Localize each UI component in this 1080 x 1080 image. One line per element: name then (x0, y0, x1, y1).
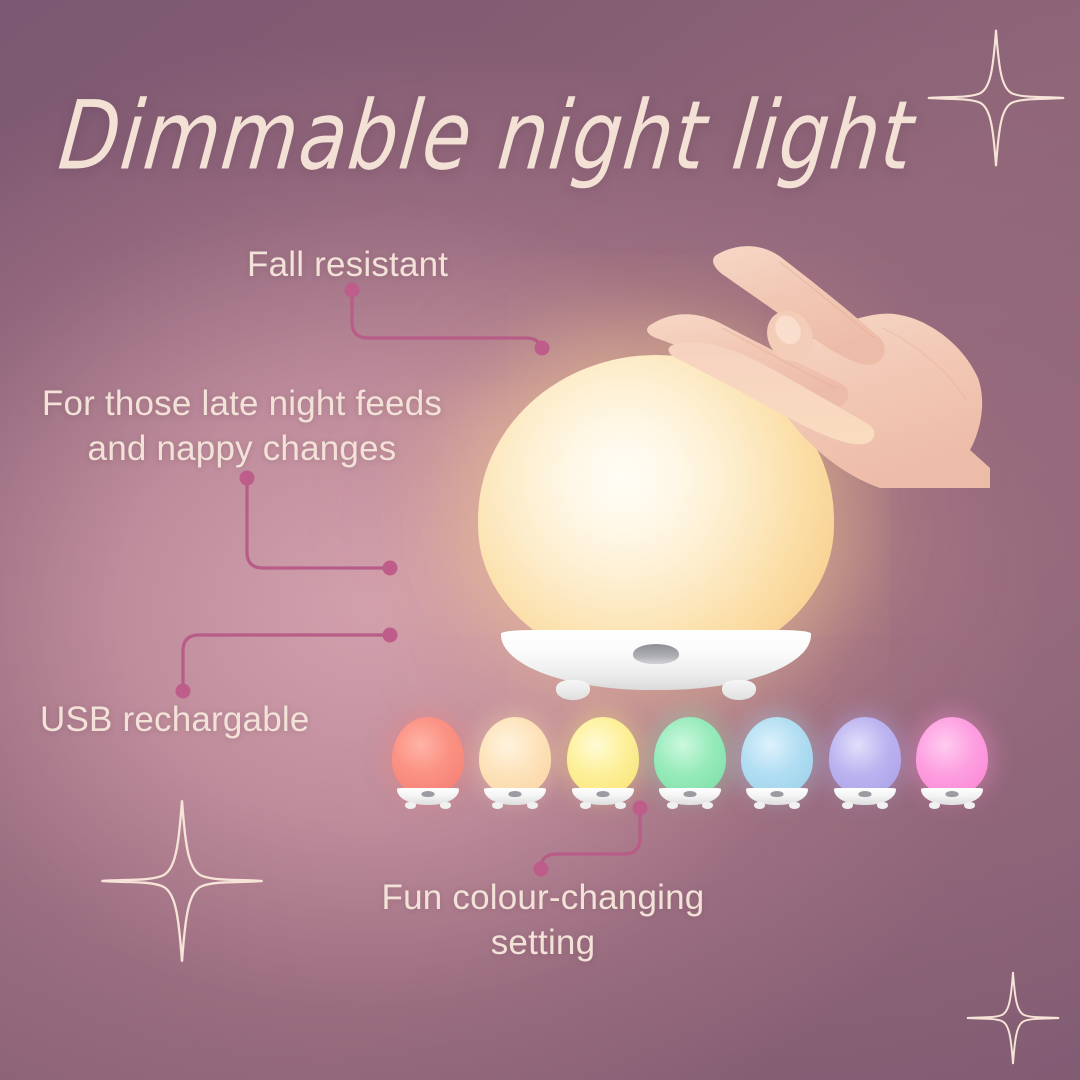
mini-foot-right (964, 802, 975, 809)
feature-label-colour-changing: Fun colour-changing setting (358, 876, 728, 966)
hand-gesture (630, 218, 990, 488)
feature-label-line2: and nappy changes (22, 427, 462, 472)
mini-globe (741, 717, 813, 795)
colour-swatch-coral (390, 717, 466, 809)
lamp-foot-right (722, 680, 756, 700)
connector-fall-resistant (352, 290, 542, 354)
dot-colour-end (534, 862, 549, 877)
colour-swatch-row (390, 714, 990, 809)
lamp-base (501, 630, 811, 690)
colour-swatch-purple (827, 717, 903, 809)
dot-feeds-start (240, 471, 255, 486)
page-title: Dimmable night light (54, 82, 826, 192)
mini-foot-right (440, 802, 451, 809)
connector-late-night-feeds (247, 478, 390, 568)
mini-foot-left (580, 802, 591, 809)
colour-swatch-lightblue (739, 717, 815, 809)
feature-label-usb-rechargable: USB rechargable (40, 698, 340, 743)
mini-foot-left (405, 802, 416, 809)
feature-label-fall-resistant: Fall resistant (247, 243, 467, 288)
colour-swatch-yellow (565, 717, 641, 809)
connector-colour-changing (541, 810, 640, 869)
mini-globe (829, 717, 901, 795)
mini-foot-left (929, 802, 940, 809)
mini-foot-left (842, 802, 853, 809)
sparkle-top-right-icon (925, 22, 1067, 174)
mini-globe (654, 717, 726, 795)
connector-usb-rechargable (183, 635, 390, 690)
mini-globe (567, 717, 639, 795)
sparkle-bottom-left-icon (98, 792, 266, 970)
lamp-foot-left (556, 680, 590, 700)
colour-swatch-pink (914, 717, 990, 809)
mini-globe (479, 717, 551, 795)
dot-usb-end (176, 684, 191, 699)
colour-swatch-peach (477, 717, 553, 809)
dot-usb-start (383, 628, 398, 643)
mini-foot-left (492, 802, 503, 809)
mini-foot-right (615, 802, 626, 809)
mini-foot-left (667, 802, 678, 809)
feature-label-late-night-feeds: For those late night feeds and nappy cha… (22, 382, 462, 472)
mini-globe (916, 717, 988, 795)
feature-label-line1: For those late night feeds (22, 382, 462, 427)
mini-globe (392, 717, 464, 795)
mini-foot-right (702, 802, 713, 809)
feature-label-line2: setting (358, 921, 728, 966)
sparkle-bottom-right-icon (965, 968, 1061, 1068)
mini-foot-left (754, 802, 765, 809)
mini-foot-right (789, 802, 800, 809)
dot-feeds-end (383, 561, 398, 576)
infographic-canvas: Dimmable night light (0, 0, 1080, 1080)
colour-swatch-green (652, 717, 728, 809)
feature-label-line1: Fun colour-changing (358, 876, 728, 921)
dot-fall-resistant-end (535, 341, 550, 356)
mini-foot-right (877, 802, 888, 809)
mini-foot-right (527, 802, 538, 809)
